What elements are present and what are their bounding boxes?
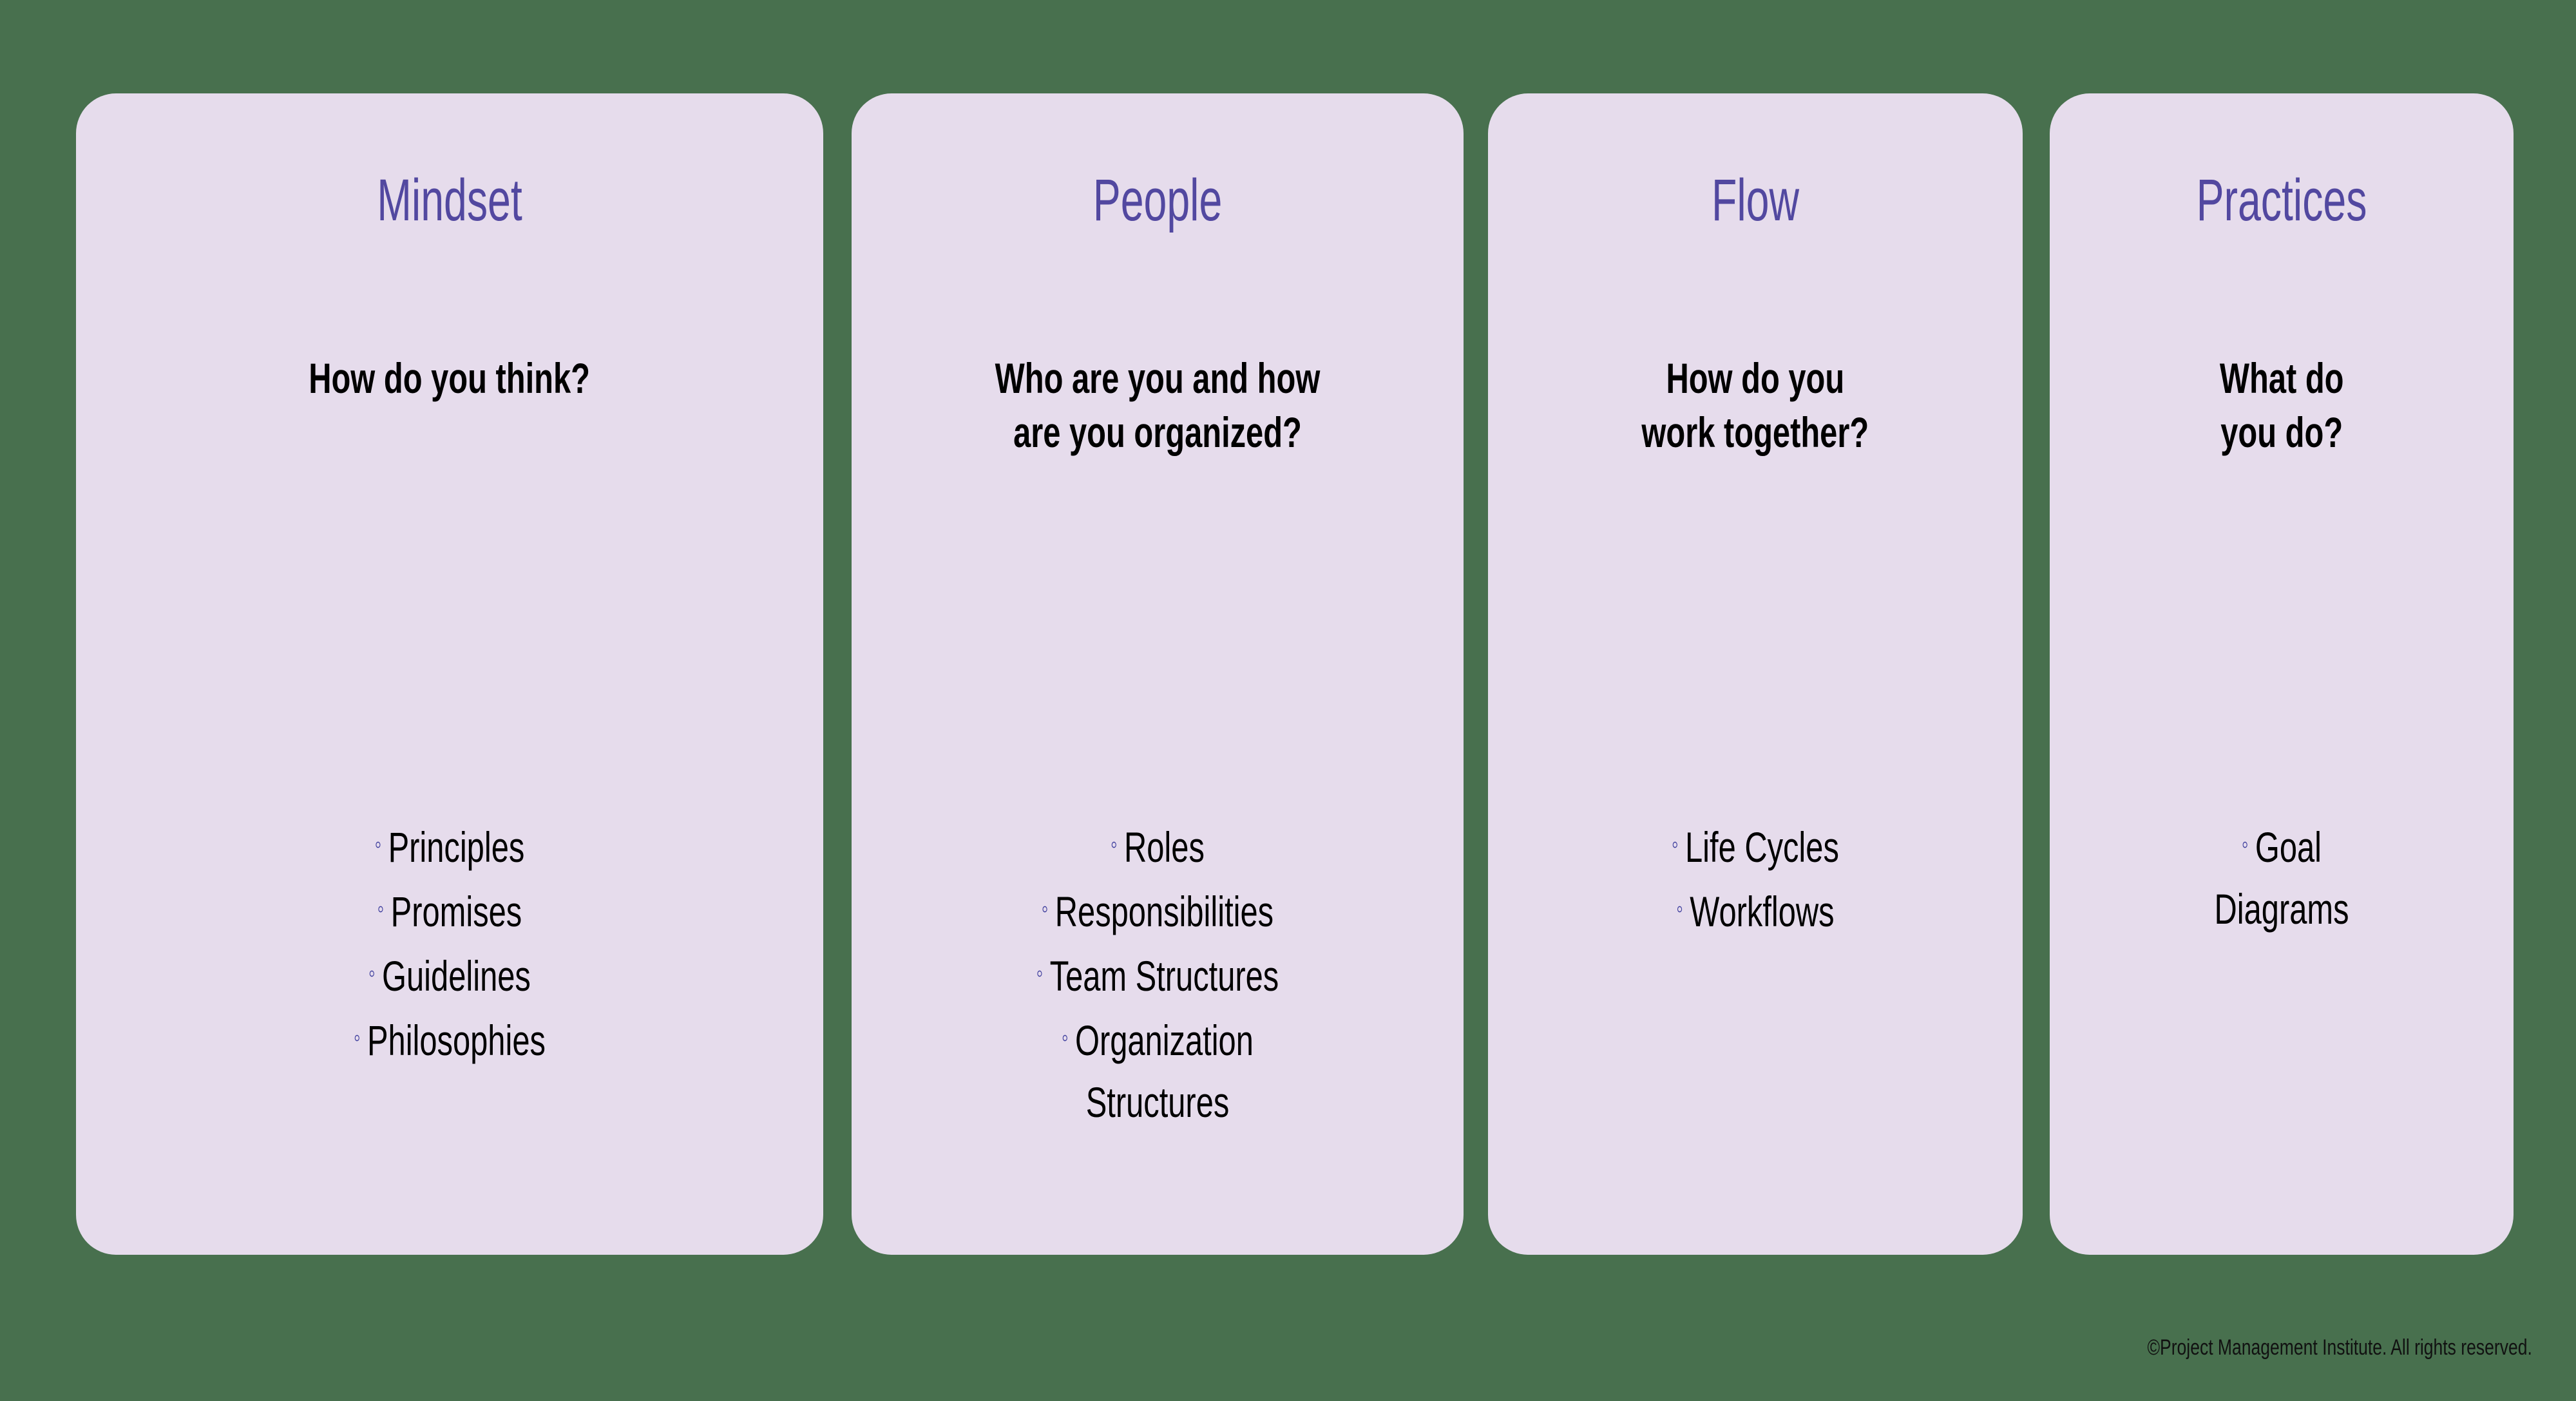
list-item-label: Principles — [388, 823, 525, 871]
card-title: Practices — [2119, 169, 2444, 231]
list-item: ◦Goal Diagrams — [2110, 814, 2454, 940]
bullet-circle-icon: ◦ — [1036, 959, 1043, 987]
list-item-label: Roles — [1124, 823, 1205, 871]
list-item: ◦Promises — [173, 878, 726, 942]
bullet-circle-icon: ◦ — [377, 895, 384, 923]
list-item-label: Organization Structures — [1075, 1016, 1254, 1126]
card-mindset: Mindset How do you think? ◦Principles◦Pr… — [76, 93, 823, 1255]
card-row: Mindset How do you think? ◦Principles◦Pr… — [76, 93, 2514, 1255]
list-item-label: Promises — [391, 888, 522, 935]
list-item: ◦Principles — [173, 814, 726, 878]
card-bullet-list: ◦Life Cycles◦Workflows — [1488, 814, 2023, 942]
card-subtitle: Who are you and how are you organized? — [949, 351, 1366, 459]
card-people: People Who are you and how are you organ… — [852, 93, 1464, 1255]
card-subtitle: What do you do? — [2124, 351, 2439, 459]
bullet-circle-icon: ◦ — [375, 830, 381, 859]
bullet-circle-icon: ◦ — [368, 959, 375, 987]
list-item-label: Goal Diagrams — [2215, 823, 2349, 933]
bullet-circle-icon: ◦ — [1672, 830, 1678, 859]
card-title: Mindset — [188, 169, 711, 231]
bullet-circle-icon: ◦ — [2242, 830, 2248, 859]
bullet-circle-icon: ◦ — [1042, 895, 1048, 923]
list-item: ◦Philosophies — [173, 1007, 726, 1071]
copyright-footer: ©Project Management Institute. All right… — [2148, 1335, 2532, 1360]
bullet-circle-icon: ◦ — [354, 1024, 360, 1052]
list-item-label: Life Cycles — [1685, 823, 1839, 871]
card-subtitle: How do you work together? — [1573, 351, 1937, 459]
card-bullet-list: ◦Goal Diagrams — [2050, 814, 2514, 940]
card-title: People — [944, 169, 1372, 231]
bullet-circle-icon: ◦ — [1676, 895, 1683, 923]
list-item: ◦Organization Structures — [931, 1007, 1384, 1133]
list-item-label: Team Structures — [1050, 952, 1279, 1000]
list-item-label: Workflows — [1690, 888, 1834, 935]
card-practices: Practices What do you do? ◦Goal Diagrams — [2050, 93, 2514, 1255]
list-item-label: Guidelines — [382, 952, 531, 1000]
card-bullet-list: ◦Principles◦Promises◦Guidelines◦Philosop… — [76, 814, 823, 1071]
card-bullet-list: ◦Roles◦Responsibilities◦Team Structures◦… — [852, 814, 1464, 1133]
list-item: ◦Roles — [931, 814, 1384, 878]
list-item: ◦Life Cycles — [1558, 814, 1953, 878]
card-subtitle: How do you think? — [195, 351, 704, 405]
card-title: Flow — [1569, 169, 1943, 231]
list-item-label: Philosophies — [367, 1016, 546, 1064]
bullet-circle-icon: ◦ — [1111, 830, 1117, 859]
list-item: ◦Guidelines — [173, 942, 726, 1007]
list-item: ◦Team Structures — [931, 942, 1384, 1007]
card-flow: Flow How do you work together? ◦Life Cyc… — [1488, 93, 2023, 1255]
list-item-label: Responsibilities — [1055, 888, 1274, 935]
list-item: ◦Responsibilities — [931, 878, 1384, 942]
list-item: ◦Workflows — [1558, 878, 1953, 942]
bullet-circle-icon: ◦ — [1062, 1024, 1068, 1052]
